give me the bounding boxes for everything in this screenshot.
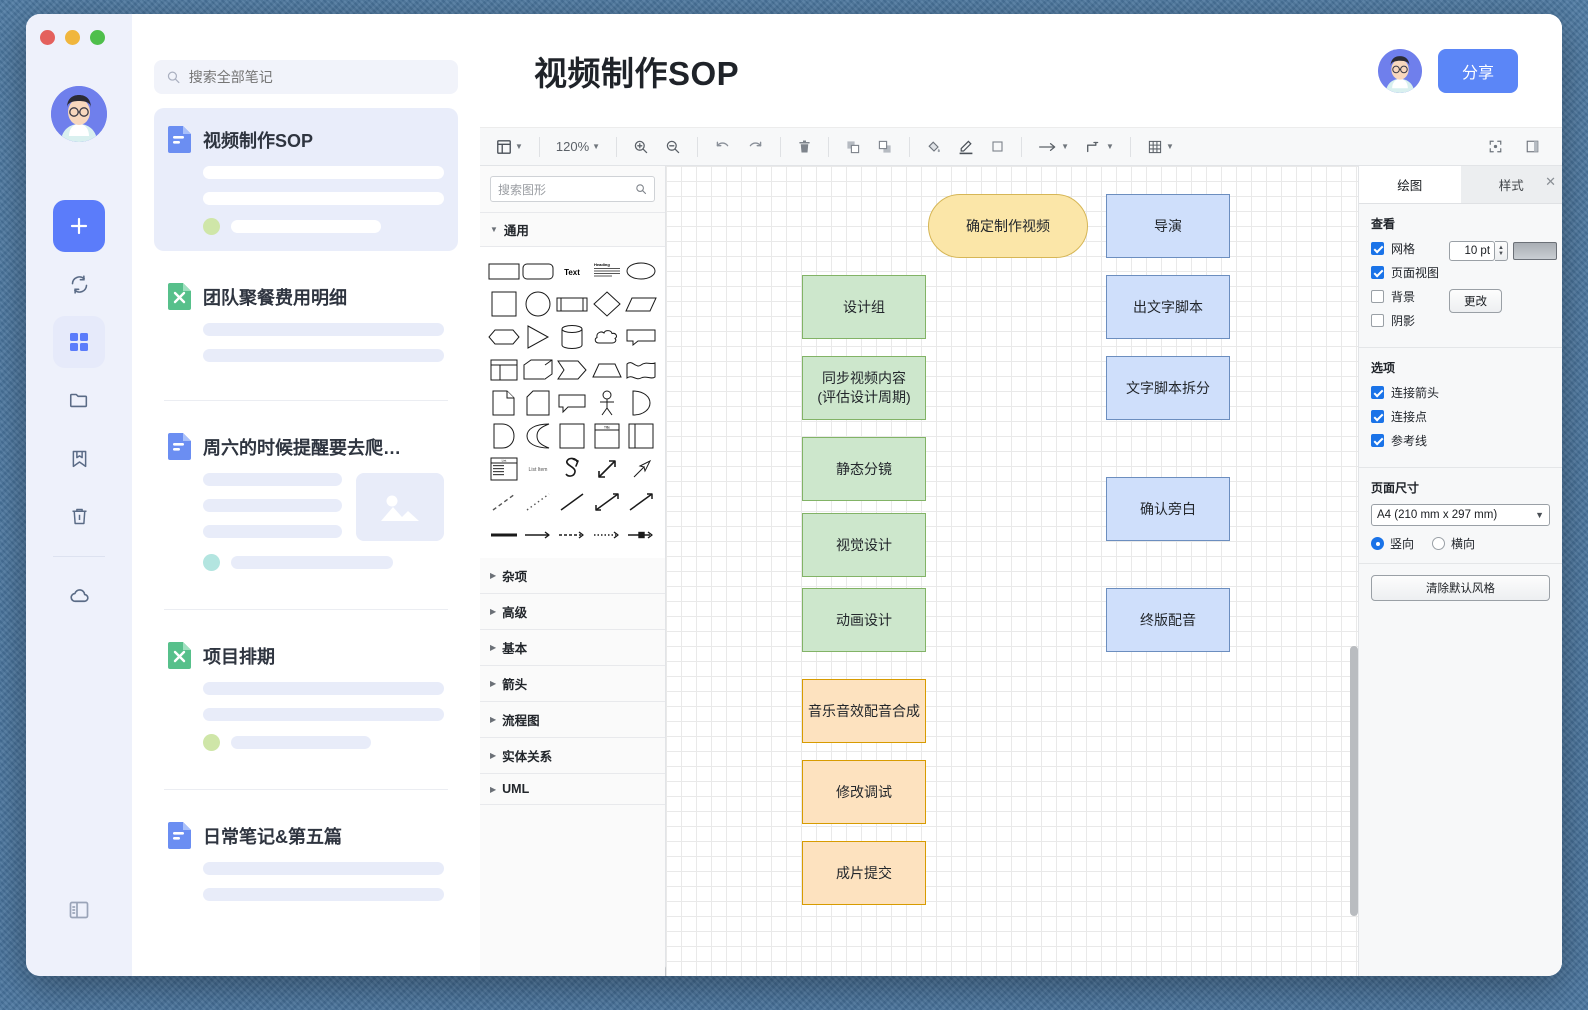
portrait-radio[interactable] xyxy=(1371,537,1384,550)
shape-dashed-line[interactable] xyxy=(488,488,520,515)
shape-category-list: ▶ 杂项 ▶ 高级 ▶ 基本 ▶ 箭头 xyxy=(480,558,665,976)
clear-default-style-button[interactable]: 清除默认风格 xyxy=(1371,575,1550,601)
waypoint-style-button[interactable]: ▼ xyxy=(1079,133,1120,161)
format-panel: 绘图 样式 ✕ 查看 网格 页面 xyxy=(1358,166,1562,976)
panel-toggle-icon xyxy=(1525,139,1540,154)
background-change-button[interactable]: 更改 xyxy=(1449,289,1502,313)
orientation-landscape[interactable]: 横向 xyxy=(1432,535,1475,552)
list-item[interactable]: 视频制作SOP xyxy=(154,108,458,251)
svg-text:Title: Title xyxy=(604,425,610,429)
chevron-right-icon: ▶ xyxy=(490,571,496,580)
shape-category-general[interactable]: ▼ 通用 xyxy=(480,212,665,247)
page-size-select[interactable]: A4 (210 mm x 297 mm) ▼ xyxy=(1371,504,1550,526)
node-label: 静态分镜 xyxy=(836,460,892,479)
diagram-node: 动画设计 xyxy=(802,588,926,652)
options-section: 选项 连接箭头 连接点 参考线 xyxy=(1359,348,1562,468)
diagram-node: 修改调试 xyxy=(802,760,926,824)
shape-dotted-arrow[interactable] xyxy=(591,521,623,548)
note-header: 日常笔记&第五篇 xyxy=(168,822,444,849)
waypoint-icon xyxy=(1085,140,1103,154)
shape-textbox[interactable]: Heading xyxy=(591,257,623,284)
node-label: 成片提交 xyxy=(836,864,892,883)
skeleton-line xyxy=(203,349,444,362)
search-box[interactable] xyxy=(154,60,458,94)
shape-search-placeholder: 搜索图形 xyxy=(498,181,546,198)
icon-rail xyxy=(26,14,132,976)
diagram-node: 音乐音效配音合成 xyxy=(802,679,926,743)
canvas-vertical-scrollbar[interactable] xyxy=(1350,646,1358,916)
shape-crescent[interactable] xyxy=(522,422,554,449)
search-input[interactable] xyxy=(189,69,446,85)
note-thumbnail xyxy=(356,473,444,541)
list-item[interactable]: 团队聚餐费用明细 xyxy=(154,265,458,378)
delete-button[interactable] xyxy=(791,133,818,161)
redo-button[interactable] xyxy=(741,133,770,161)
chevron-down-icon: ▼ xyxy=(515,142,523,151)
chevron-down-icon: ▼ xyxy=(1535,510,1544,520)
background-checkbox[interactable] xyxy=(1371,290,1384,303)
node-label: 导演 xyxy=(1154,217,1182,236)
skeleton-line xyxy=(203,192,444,205)
node-label: 文字脚本拆分 xyxy=(1126,379,1210,398)
diagram-canvas-area[interactable]: 确定制作视频 导演 出文字脚本 文字脚本拆分 确认旁白 终版配音 设计组 同步视… xyxy=(666,166,1358,976)
redo-icon xyxy=(747,138,764,155)
shadow-checkbox[interactable] xyxy=(1371,314,1384,327)
shadow-button[interactable] xyxy=(984,133,1011,161)
shape-cylinder[interactable] xyxy=(556,323,588,350)
shape-text[interactable]: Text xyxy=(556,257,588,284)
shape-dashed-arrow[interactable] xyxy=(556,521,588,548)
skeleton-line xyxy=(203,166,444,179)
note-title: 团队聚餐费用明细 xyxy=(203,284,347,310)
zoom-out-icon xyxy=(665,139,681,155)
connection-points-row[interactable]: 连接点 xyxy=(1371,408,1550,425)
shape-plain-square[interactable] xyxy=(556,422,588,449)
send-to-back-button[interactable] xyxy=(871,133,899,161)
note-title: 周六的时候提醒要去爬… xyxy=(203,434,401,460)
background-label: 背景 xyxy=(1391,288,1415,305)
shape-callout[interactable] xyxy=(625,323,657,350)
grid-checkbox-row[interactable]: 网格 xyxy=(1371,240,1439,257)
skeleton-line xyxy=(203,525,342,538)
note-preview xyxy=(168,682,444,751)
tag-dot xyxy=(203,734,220,751)
close-icon[interactable]: ✕ xyxy=(1545,174,1556,190)
sidebar-item-cloud[interactable] xyxy=(53,569,105,621)
tag-dot xyxy=(203,218,220,235)
note-header: 团队聚餐费用明细 xyxy=(168,283,444,310)
connection-points-label: 连接点 xyxy=(1391,408,1427,425)
diagram-editor: 搜索图形 ▼ 通用 Text Heading xyxy=(480,166,1562,976)
shape-bidirectional-arrow[interactable] xyxy=(591,488,623,515)
shape-diamond[interactable] xyxy=(591,290,623,317)
list-item[interactable]: 项目排期 xyxy=(154,624,458,767)
connection-arrows-checkbox[interactable] xyxy=(1371,386,1384,399)
shape-category-label: 通用 xyxy=(504,220,529,239)
header-actions: 分享 xyxy=(1378,49,1518,93)
arrow-style-button[interactable]: ▼ xyxy=(1032,133,1075,161)
node-label: 终版配音 xyxy=(1140,611,1196,630)
shape-category-entity-relation[interactable]: ▶ 实体关系 xyxy=(480,738,665,774)
note-preview xyxy=(168,323,444,362)
shape-outline-arrow[interactable] xyxy=(625,455,657,482)
shape-titled-box[interactable]: Title xyxy=(591,422,623,449)
fullscreen-icon xyxy=(1488,139,1503,154)
bring-to-front-icon xyxy=(845,139,861,155)
sheet-file-icon xyxy=(168,642,191,669)
grid-size-input[interactable]: 10 pt xyxy=(1449,241,1495,261)
note-preview xyxy=(168,460,444,541)
skeleton-line xyxy=(203,323,444,336)
shape-list-item[interactable]: List Item xyxy=(522,455,554,482)
chevron-right-icon: ▶ xyxy=(490,607,496,616)
diagram-node: 视觉设计 xyxy=(802,513,926,577)
grid-label: 网格 xyxy=(1391,240,1415,257)
shape-trapezoid[interactable] xyxy=(591,356,623,383)
share-button[interactable]: 分享 xyxy=(1438,49,1518,93)
shape-directional-arrow[interactable] xyxy=(625,488,657,515)
note-preview xyxy=(168,862,444,901)
landscape-radio[interactable] xyxy=(1432,537,1445,550)
chevron-right-icon: ▶ xyxy=(490,751,496,760)
maximize-window-button[interactable] xyxy=(90,30,105,45)
format-panel-tabs: 绘图 样式 ✕ xyxy=(1359,166,1562,204)
diagram-node: 终版配音 xyxy=(1106,588,1230,652)
shape-arrow-pentagon[interactable] xyxy=(556,356,588,383)
shape-document[interactable] xyxy=(488,389,520,416)
list-item[interactable]: 日常笔记&第五篇 xyxy=(154,804,458,917)
undo-button[interactable] xyxy=(708,133,737,161)
grid-color-swatch[interactable] xyxy=(1513,242,1557,260)
node-label: 同步视频内容(评估设计周期) xyxy=(817,369,910,407)
arrow-icon xyxy=(1038,140,1058,154)
list-item[interactable]: 周六的时候提醒要去爬… xyxy=(154,415,458,587)
minimize-window-button[interactable] xyxy=(65,30,80,45)
chevron-right-icon: ▶ xyxy=(490,643,496,652)
node-label: 设计组 xyxy=(843,298,885,317)
grid-size-spinner[interactable]: ▲▼ xyxy=(1495,241,1508,261)
page-title: 视频制作SOP xyxy=(534,47,739,95)
shape-search-box[interactable]: 搜索图形 xyxy=(490,176,655,202)
table-icon xyxy=(1147,139,1163,155)
shape-vertical-container[interactable] xyxy=(625,422,657,449)
orientation-portrait[interactable]: 竖向 xyxy=(1371,535,1414,552)
node-label: 出文字脚本 xyxy=(1133,298,1203,317)
shape-square[interactable] xyxy=(488,290,520,317)
category-label: 基本 xyxy=(502,638,527,657)
shape-list-table[interactable]: List xyxy=(488,455,520,482)
shape-curved-arrow[interactable] xyxy=(556,455,588,482)
guides-row[interactable]: 参考线 xyxy=(1371,432,1550,449)
node-label: 确定制作视频 xyxy=(966,217,1050,236)
page-size-section: 页面尺寸 A4 (210 mm x 297 mm) ▼ 竖向 横向 xyxy=(1359,468,1562,564)
shape-circle[interactable] xyxy=(522,290,554,317)
shape-thick-line[interactable] xyxy=(488,521,520,548)
shape-triangle[interactable] xyxy=(522,323,554,350)
skeleton-line xyxy=(203,888,444,901)
sidebar-item-trash[interactable] xyxy=(53,490,105,542)
diagram-node: 出文字脚本 xyxy=(1106,275,1230,339)
category-label: 实体关系 xyxy=(502,746,552,765)
diagram-node: 成片提交 xyxy=(802,841,926,905)
chevron-down-icon: ▼ xyxy=(1166,142,1174,151)
note-title: 日常笔记&第五篇 xyxy=(203,823,342,849)
skeleton-line xyxy=(231,556,393,569)
sidebar-item-folders[interactable] xyxy=(53,374,105,426)
notes-list-panel: 视频制作SOP 团队聚餐费用明细 xyxy=(132,14,480,976)
diagram-node: 静态分镜 xyxy=(802,437,926,501)
skeleton-line xyxy=(203,862,444,875)
connection-arrows-row[interactable]: 连接箭头 xyxy=(1371,384,1550,401)
image-icon xyxy=(377,489,423,525)
zoom-in-icon xyxy=(633,139,649,155)
grid-checkbox[interactable] xyxy=(1371,242,1384,255)
guides-checkbox[interactable] xyxy=(1371,434,1384,447)
node-label: 修改调试 xyxy=(836,783,892,802)
landscape-label: 横向 xyxy=(1451,535,1475,552)
toggle-sidebar-button[interactable] xyxy=(53,884,105,936)
search-icon xyxy=(635,183,647,195)
shape-cloud[interactable] xyxy=(591,323,623,350)
line-color-button[interactable] xyxy=(952,133,980,161)
shape-solid-line[interactable] xyxy=(556,488,588,515)
sidebar-item-all-notes[interactable] xyxy=(53,316,105,368)
note-title: 项目排期 xyxy=(203,643,275,669)
shape-table-layout[interactable] xyxy=(488,356,520,383)
send-to-back-icon xyxy=(877,139,893,155)
node-label: 视觉设计 xyxy=(836,536,892,555)
shape-process[interactable] xyxy=(556,290,588,317)
note-header: 周六的时候提醒要去爬… xyxy=(168,433,444,460)
diagram-toolbar: ▼ 120% ▼ xyxy=(480,128,1562,166)
shadow-label: 阴影 xyxy=(1391,312,1415,329)
diagram-node: 设计组 xyxy=(802,275,926,339)
shape-rounded-rectangle[interactable] xyxy=(522,257,554,284)
skeleton-line xyxy=(203,473,342,486)
table-button[interactable]: ▼ xyxy=(1141,133,1180,161)
connection-arrows-label: 连接箭头 xyxy=(1391,384,1439,401)
chevron-down-icon: ▼ xyxy=(592,142,600,151)
note-header: 项目排期 xyxy=(168,642,444,669)
skeleton-line xyxy=(203,682,444,695)
note-preview xyxy=(168,166,444,235)
svg-text:List Item: List Item xyxy=(529,467,548,473)
category-label: 流程图 xyxy=(502,710,540,729)
tab-diagram[interactable]: 绘图 xyxy=(1359,166,1461,203)
category-label: 箭头 xyxy=(502,674,527,693)
shape-node-arrow[interactable] xyxy=(625,521,657,548)
search-icon xyxy=(166,69,181,85)
list-divider xyxy=(164,609,448,610)
shape-dotted-line[interactable] xyxy=(522,488,554,515)
page-view-checkbox[interactable] xyxy=(1371,266,1384,279)
shape-category-basic[interactable]: ▶ 基本 xyxy=(480,630,665,666)
shape-hexagon[interactable] xyxy=(488,323,520,350)
shape-category-uml[interactable]: ▶ UML xyxy=(480,774,665,805)
shape-ellipse[interactable] xyxy=(625,257,657,284)
shape-d-shape[interactable] xyxy=(488,422,520,449)
view-layout-button[interactable]: ▼ xyxy=(490,133,529,161)
square-icon xyxy=(990,139,1005,154)
document-header: 视频制作SOP 分享 xyxy=(480,14,1562,128)
chevron-right-icon: ▶ xyxy=(490,785,496,794)
shape-double-arrow[interactable] xyxy=(591,455,623,482)
shape-parallelogram[interactable] xyxy=(625,290,657,317)
skeleton-line xyxy=(203,708,444,721)
doc-file-icon xyxy=(168,822,191,849)
page-view-checkbox-row[interactable]: 页面视图 xyxy=(1371,264,1439,281)
shape-speech-bubble[interactable] xyxy=(556,389,588,416)
sync-button[interactable] xyxy=(53,258,105,310)
diagram-node: 同步视频内容(评估设计周期) xyxy=(802,356,926,420)
list-divider xyxy=(164,400,448,401)
chevron-right-icon: ▶ xyxy=(490,679,496,688)
undo-icon xyxy=(714,138,731,155)
chevron-right-icon: ▶ xyxy=(490,715,496,724)
diagram-node: 导演 xyxy=(1106,194,1230,258)
main-area: 视频制作SOP 分享 xyxy=(480,14,1562,976)
shape-half-circle[interactable] xyxy=(625,389,657,416)
category-label: 高级 xyxy=(502,602,527,621)
fill-color-button[interactable] xyxy=(920,133,948,161)
skeleton-line xyxy=(231,736,371,749)
shape-category-arrows[interactable]: ▶ 箭头 xyxy=(480,666,665,702)
clear-style-section: 清除默认风格 xyxy=(1359,564,1562,612)
diagram-node: 确认旁白 xyxy=(1106,477,1230,541)
chevron-down-icon: ▼ xyxy=(1106,142,1114,151)
chevron-down-icon: ▼ xyxy=(1061,142,1069,151)
rail-divider xyxy=(53,556,105,557)
view-section: 查看 网格 页面视图 xyxy=(1359,204,1562,348)
skeleton-tag-row xyxy=(203,218,444,235)
svg-text:Heading: Heading xyxy=(594,262,610,267)
grid-size-stepper[interactable]: 10 pt ▲▼ xyxy=(1449,241,1557,261)
shape-wave[interactable] xyxy=(625,356,657,383)
sheet-file-icon xyxy=(168,283,191,310)
doc-file-icon xyxy=(168,126,191,153)
sidebar-item-bookmarks[interactable] xyxy=(53,432,105,484)
shape-category-misc[interactable]: ▶ 杂项 xyxy=(480,558,665,594)
options-section-label: 选项 xyxy=(1371,359,1550,376)
bring-to-front-button[interactable] xyxy=(839,133,867,161)
avatar[interactable] xyxy=(1378,49,1422,93)
shape-category-advanced[interactable]: ▶ 高级 xyxy=(480,594,665,630)
shape-cube[interactable] xyxy=(522,356,554,383)
skeleton-line xyxy=(203,499,342,512)
shape-panel: 搜索图形 ▼ 通用 Text Heading xyxy=(480,166,666,976)
zoom-level-label: 120% xyxy=(556,139,589,154)
category-label: 杂项 xyxy=(502,566,527,585)
toolbar-right-actions xyxy=(1482,133,1552,161)
node-label: 动画设计 xyxy=(836,611,892,630)
paint-bucket-icon xyxy=(926,139,942,155)
chevron-down-icon: ▼ xyxy=(490,225,498,234)
background-checkbox-row[interactable]: 背景 xyxy=(1371,288,1439,305)
list-divider xyxy=(164,789,448,790)
layout-icon xyxy=(496,139,512,155)
orientation-radio-group: 竖向 横向 xyxy=(1371,535,1550,552)
node-label: 确认旁白 xyxy=(1140,500,1196,519)
avatar[interactable] xyxy=(51,86,107,142)
window-controls xyxy=(40,30,105,45)
diagram-node: 确定制作视频 xyxy=(928,194,1088,258)
shape-category-flowchart[interactable]: ▶ 流程图 xyxy=(480,702,665,738)
zoom-in-button[interactable] xyxy=(627,133,655,161)
close-window-button[interactable] xyxy=(40,30,55,45)
note-title: 视频制作SOP xyxy=(203,127,313,153)
shadow-checkbox-row[interactable]: 阴影 xyxy=(1371,312,1439,329)
shape-rectangle[interactable] xyxy=(488,257,520,284)
view-section-label: 查看 xyxy=(1371,215,1550,232)
page-size-label: 页面尺寸 xyxy=(1371,479,1550,496)
category-label: UML xyxy=(502,782,529,796)
shape-actor[interactable] xyxy=(591,389,623,416)
shape-card[interactable] xyxy=(522,389,554,416)
portrait-label: 竖向 xyxy=(1390,535,1414,552)
shape-grid: Text Heading xyxy=(480,247,665,558)
fullscreen-button[interactable] xyxy=(1482,133,1509,161)
doc-file-icon xyxy=(168,433,191,460)
shape-simple-arrow[interactable] xyxy=(522,521,554,548)
zoom-out-button[interactable] xyxy=(659,133,687,161)
page-size-value: A4 (210 mm x 297 mm) xyxy=(1377,509,1497,521)
svg-text:List: List xyxy=(502,458,507,462)
diagram-canvas[interactable]: 确定制作视频 导演 出文字脚本 文字脚本拆分 确认旁白 终版配音 设计组 同步视… xyxy=(666,166,1358,976)
trash-icon xyxy=(797,139,812,154)
skeleton-line xyxy=(231,220,381,233)
new-note-button[interactable] xyxy=(53,200,105,252)
guides-label: 参考线 xyxy=(1391,432,1427,449)
toggle-format-panel-button[interactable] xyxy=(1519,133,1546,161)
page-view-label: 页面视图 xyxy=(1391,264,1439,281)
diagram-node: 文字脚本拆分 xyxy=(1106,356,1230,420)
tag-dot xyxy=(203,554,220,571)
note-header: 视频制作SOP xyxy=(168,126,444,153)
zoom-level-button[interactable]: 120% ▼ xyxy=(550,133,606,161)
connection-points-checkbox[interactable] xyxy=(1371,410,1384,423)
pencil-line-icon xyxy=(958,139,974,155)
note-tag-row xyxy=(168,554,444,571)
svg-text:Text: Text xyxy=(565,268,581,277)
node-label: 音乐音效配音合成 xyxy=(808,702,920,721)
app-window: 视频制作SOP 团队聚餐费用明细 xyxy=(26,14,1562,976)
